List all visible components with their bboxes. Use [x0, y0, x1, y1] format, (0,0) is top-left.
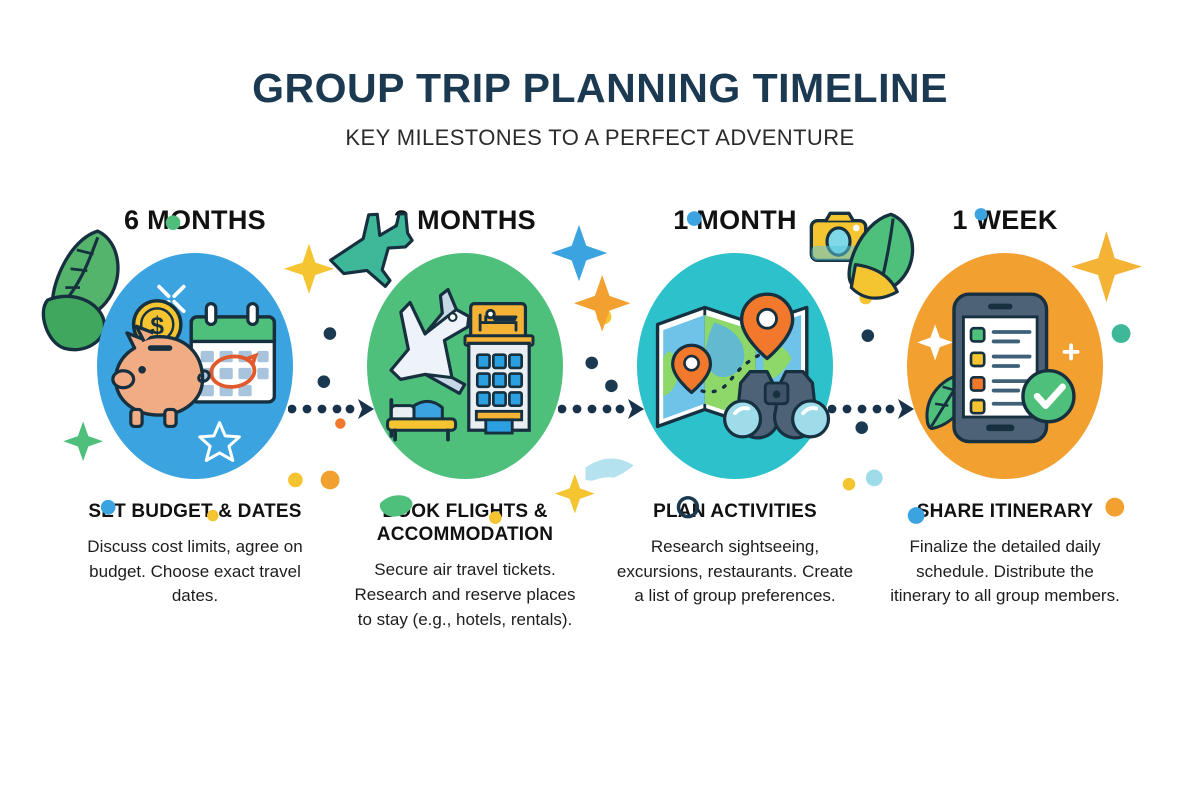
- step-2-title: BOOK FLIGHTS & ACCOMMODATION: [330, 500, 600, 546]
- step-1-timeframe: 6 MONTHS: [60, 205, 330, 236]
- step-2-circle: [367, 253, 563, 479]
- piggy-bank-calendar-icon: $: [110, 281, 280, 451]
- sparkle-icon: [284, 244, 334, 294]
- arrow-step1-to-step2: [288, 397, 374, 421]
- header: GROUP TRIP PLANNING TIMELINE KEY MILESTO…: [0, 0, 1200, 151]
- page-title: GROUP TRIP PLANNING TIMELINE: [0, 66, 1200, 111]
- step-1-title: SET BUDGET & DATES: [60, 500, 330, 523]
- step-3-timeframe: 1 MONTH: [600, 205, 870, 236]
- sparkle-icon: [1065, 345, 1078, 358]
- step-2-timeframe: 3 MONTHS: [330, 205, 600, 236]
- sparkle-icon: [63, 421, 103, 461]
- step-1-circle: $: [97, 253, 293, 479]
- dot-decoration: [1112, 324, 1131, 343]
- dot-decoration: [843, 478, 856, 491]
- hotel-icon: [465, 304, 533, 433]
- step-2-illustration: [330, 246, 600, 486]
- arrow-step2-to-step3: [558, 397, 644, 421]
- step-1-illustration: $: [60, 246, 330, 486]
- step-2-description: Secure air travel tickets. Research and …: [330, 558, 600, 632]
- step-4-timeframe: 1 WEEK: [870, 205, 1140, 236]
- page-subtitle: KEY MILESTONES TO A PERFECT ADVENTURE: [0, 125, 1200, 151]
- calendar-icon: [191, 304, 274, 402]
- step-3-illustration: [600, 246, 870, 486]
- bed-icon: [388, 400, 456, 440]
- step-4-circle: [907, 253, 1103, 479]
- phone-checklist-icon: [920, 281, 1090, 451]
- arrow-step3-to-step4: [828, 397, 914, 421]
- step-1-description: Discuss cost limits, agree on budget. Ch…: [60, 535, 330, 609]
- step-3-title: PLAN ACTIVITIES: [600, 500, 870, 523]
- check-badge-icon: [1023, 371, 1074, 422]
- step-3-description: Research sightseeing, excursions, restau…: [600, 535, 870, 609]
- step-4-illustration: [870, 246, 1140, 486]
- dot-decoration: [288, 473, 303, 488]
- leaf-icon: [43, 296, 104, 349]
- step-4-description: Finalize the detailed daily schedule. Di…: [870, 535, 1140, 609]
- star-icon: [200, 423, 240, 461]
- airplane-hotel-icon: [380, 281, 550, 451]
- infographic-canvas: GROUP TRIP PLANNING TIMELINE KEY MILESTO…: [0, 0, 1200, 800]
- sparkle-icon: [917, 324, 953, 360]
- phone-icon: [954, 294, 1047, 441]
- leaf-icon: [53, 231, 118, 318]
- map-binoculars-icon: [650, 281, 820, 451]
- step-3-circle: [637, 253, 833, 479]
- binoculars-icon: [725, 372, 829, 438]
- step-4-title: SHARE ITINERARY: [870, 500, 1140, 523]
